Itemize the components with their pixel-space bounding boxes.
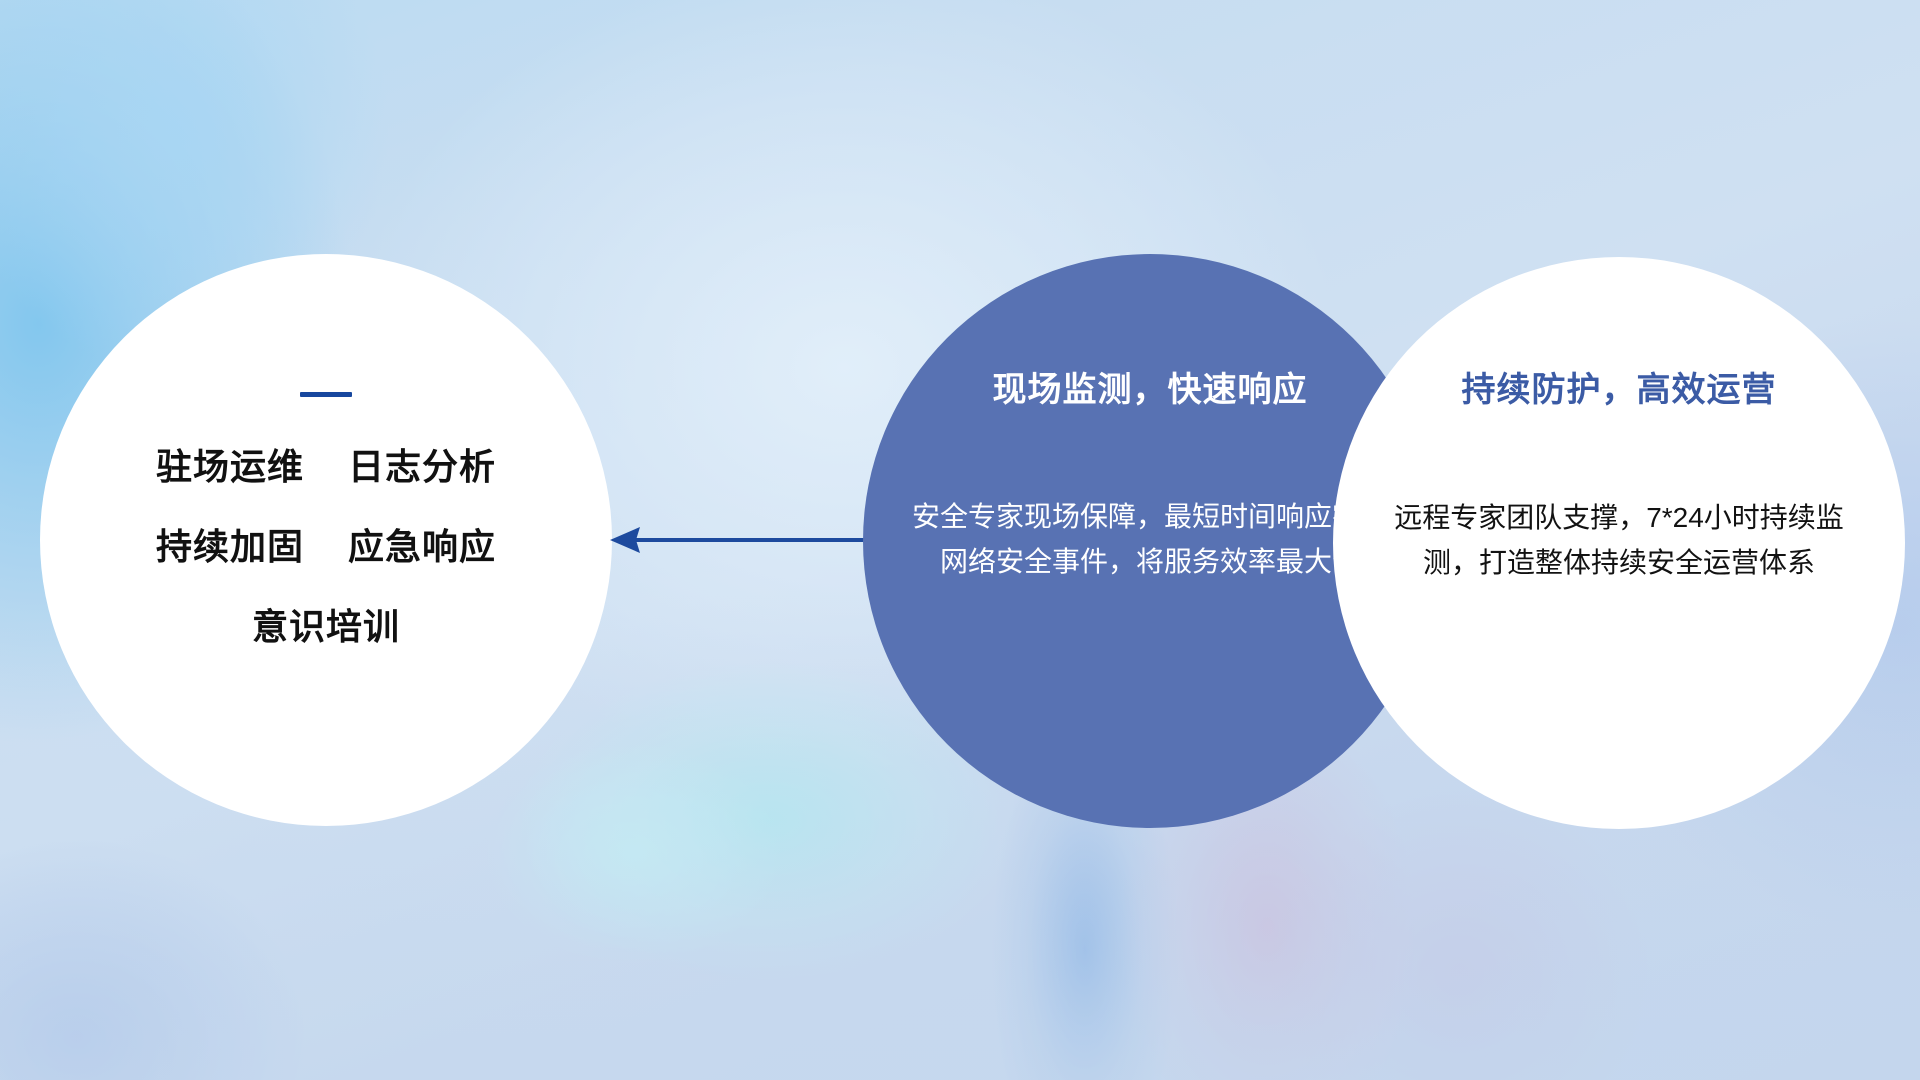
- left-keyword-circle[interactable]: 驻场运维 日志分析 持续加固 应急响应 意识培训: [40, 254, 612, 826]
- arrow-left-icon: [610, 522, 900, 558]
- right-white-circle[interactable]: [1333, 257, 1905, 829]
- keyword-row: 驻场运维 日志分析: [40, 449, 612, 485]
- keyword-row: 持续加固 应急响应: [40, 529, 612, 565]
- keyword-row: 意识培训: [40, 609, 612, 645]
- slide-canvas: 驻场运维 日志分析 持续加固 应急响应 意识培训 现场监测，快速响应 安全专家现…: [0, 0, 1920, 1080]
- left-circle-content: 驻场运维 日志分析 持续加固 应急响应 意识培训: [40, 392, 612, 645]
- divider-dash-icon: [300, 392, 352, 397]
